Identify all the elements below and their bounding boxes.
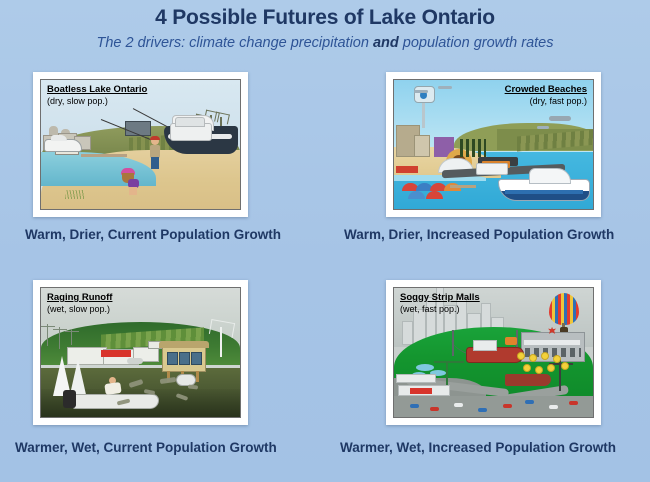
parked-cars xyxy=(127,358,143,364)
storage-tanks xyxy=(476,163,508,175)
scene-label-soggy-strip-malls: Soggy Strip Malls (wet, fast pop.) xyxy=(400,293,480,314)
store-sign xyxy=(524,340,580,345)
stilt xyxy=(196,371,199,382)
scene-illustration-crowded-beaches: Crowded Beaches (dry, fast pop.) xyxy=(393,79,594,210)
page-title: 4 Possible Futures of Lake Ontario xyxy=(0,6,650,30)
scene-drivers: (dry, fast pop.) xyxy=(505,96,587,106)
cargo-ship xyxy=(466,347,524,363)
light-icon xyxy=(547,364,555,372)
legs xyxy=(151,157,159,169)
torso xyxy=(104,382,121,395)
person-in-boat xyxy=(105,377,121,399)
light-icon xyxy=(529,354,537,362)
legs xyxy=(129,187,137,195)
scene-label-crowded-beaches: Crowded Beaches (dry, fast pop.) xyxy=(505,85,587,106)
cap xyxy=(150,136,160,140)
window xyxy=(179,352,190,365)
city-building xyxy=(414,135,430,157)
scene-title: Boatless Lake Ontario xyxy=(47,85,147,96)
caption-raging-runoff: Warmer, Wet, Current Population Growth xyxy=(15,440,277,455)
power-pylon xyxy=(71,329,73,345)
hot-air-balloon xyxy=(549,293,579,325)
scene-drivers: (wet, fast pop.) xyxy=(400,304,480,314)
strip-mall xyxy=(396,374,436,383)
outboard-motor xyxy=(63,390,76,408)
factory-sign xyxy=(101,350,131,357)
light-icon xyxy=(541,352,549,360)
wind-turbine-icon xyxy=(220,327,222,357)
airplane-icon xyxy=(414,90,428,93)
flood-debris xyxy=(188,384,198,389)
bridge-tower xyxy=(452,330,454,356)
roof xyxy=(159,341,209,348)
car xyxy=(410,404,419,408)
pine-trees xyxy=(460,139,486,157)
car xyxy=(549,405,558,409)
scene-illustration-raging-runoff: Raging Runoff (wet, slow pop.) xyxy=(40,287,241,418)
yacht-cabin xyxy=(529,168,571,184)
scene-title: Soggy Strip Malls xyxy=(400,293,480,304)
person-fishing xyxy=(148,137,162,171)
airplane-icon xyxy=(549,116,571,121)
power-pylon xyxy=(47,324,49,346)
panel-raging-runoff[interactable]: Raging Runoff (wet, slow pop.) xyxy=(33,280,248,425)
house-on-stilts xyxy=(162,346,206,372)
ship-deckhouse xyxy=(473,340,497,351)
panel-soggy-strip-malls[interactable]: Soggy Strip Malls (wet, fast pop.) xyxy=(386,280,601,425)
car xyxy=(454,403,463,407)
scene-title: Raging Runoff xyxy=(47,293,112,304)
car xyxy=(569,401,578,405)
scene-illustration-boatless-lake-ontario: Boatless Lake Ontario (dry, slow pop.) xyxy=(40,79,241,210)
car xyxy=(503,404,512,408)
scene-illustration-soggy-strip-malls: Soggy Strip Malls (wet, fast pop.) xyxy=(393,287,594,418)
panel-boatless-lake-ontario[interactable]: Boatless Lake Ontario (dry, slow pop.) xyxy=(33,72,248,217)
power-pylon xyxy=(59,327,61,349)
airplane-icon xyxy=(438,86,452,89)
subtitle-emphasis: and xyxy=(373,35,399,51)
window xyxy=(167,352,178,365)
airplane-icon xyxy=(537,126,549,129)
caption-soggy-strip-malls: Warmer, Wet, Increased Population Growth xyxy=(340,440,616,455)
car xyxy=(478,408,487,412)
boat-roof xyxy=(175,117,205,127)
dock xyxy=(81,154,127,157)
scene-drivers: (wet, slow pop.) xyxy=(47,304,112,314)
beached-boat xyxy=(170,123,212,141)
retention-pond xyxy=(416,364,434,371)
scene-label-boatless-lake-ontario: Boatless Lake Ontario (dry, slow pop.) xyxy=(47,85,147,106)
roadway xyxy=(394,396,593,417)
subtitle-part-2: population growth rates xyxy=(399,35,554,51)
light-icon xyxy=(517,352,525,360)
scene-title: Crowded Beaches xyxy=(505,85,587,96)
mall-sign xyxy=(410,388,432,394)
slide-canvas: 4 Possible Futures of Lake Ontario The 2… xyxy=(0,0,650,482)
charter-yacht xyxy=(498,179,590,201)
light-icon xyxy=(535,366,543,374)
panel-crowded-beaches[interactable]: Crowded Beaches (dry, fast pop.) xyxy=(386,72,601,217)
water-tower xyxy=(422,98,425,128)
skyscraper xyxy=(402,321,413,345)
light-icon xyxy=(553,355,561,363)
pier xyxy=(450,185,476,188)
scene-label-raging-runoff: Raging Runoff (wet, slow pop.) xyxy=(47,293,112,314)
yacht-hull-stripe xyxy=(505,190,583,194)
stranded-boat xyxy=(44,139,82,152)
light-icon xyxy=(561,362,569,370)
scene-drivers: (dry, slow pop.) xyxy=(47,96,147,106)
light-icon xyxy=(523,364,531,372)
car xyxy=(525,400,534,404)
parking-lot-lights xyxy=(517,352,577,378)
window xyxy=(191,352,202,365)
page-subtitle: The 2 drivers: climate change precipitat… xyxy=(0,35,650,51)
subtitle-part-1: The 2 drivers: climate change precipitat… xyxy=(97,35,373,51)
child-digging-in-sand xyxy=(121,168,141,194)
beach-grass xyxy=(65,190,85,199)
car xyxy=(430,407,439,411)
beach-pavilion xyxy=(396,166,418,173)
roadside-sign xyxy=(505,337,517,345)
caption-crowded-beaches: Warm, Drier, Increased Population Growth xyxy=(344,227,614,242)
caption-boatless-lake-ontario: Warm, Drier, Current Population Growth xyxy=(25,227,281,242)
